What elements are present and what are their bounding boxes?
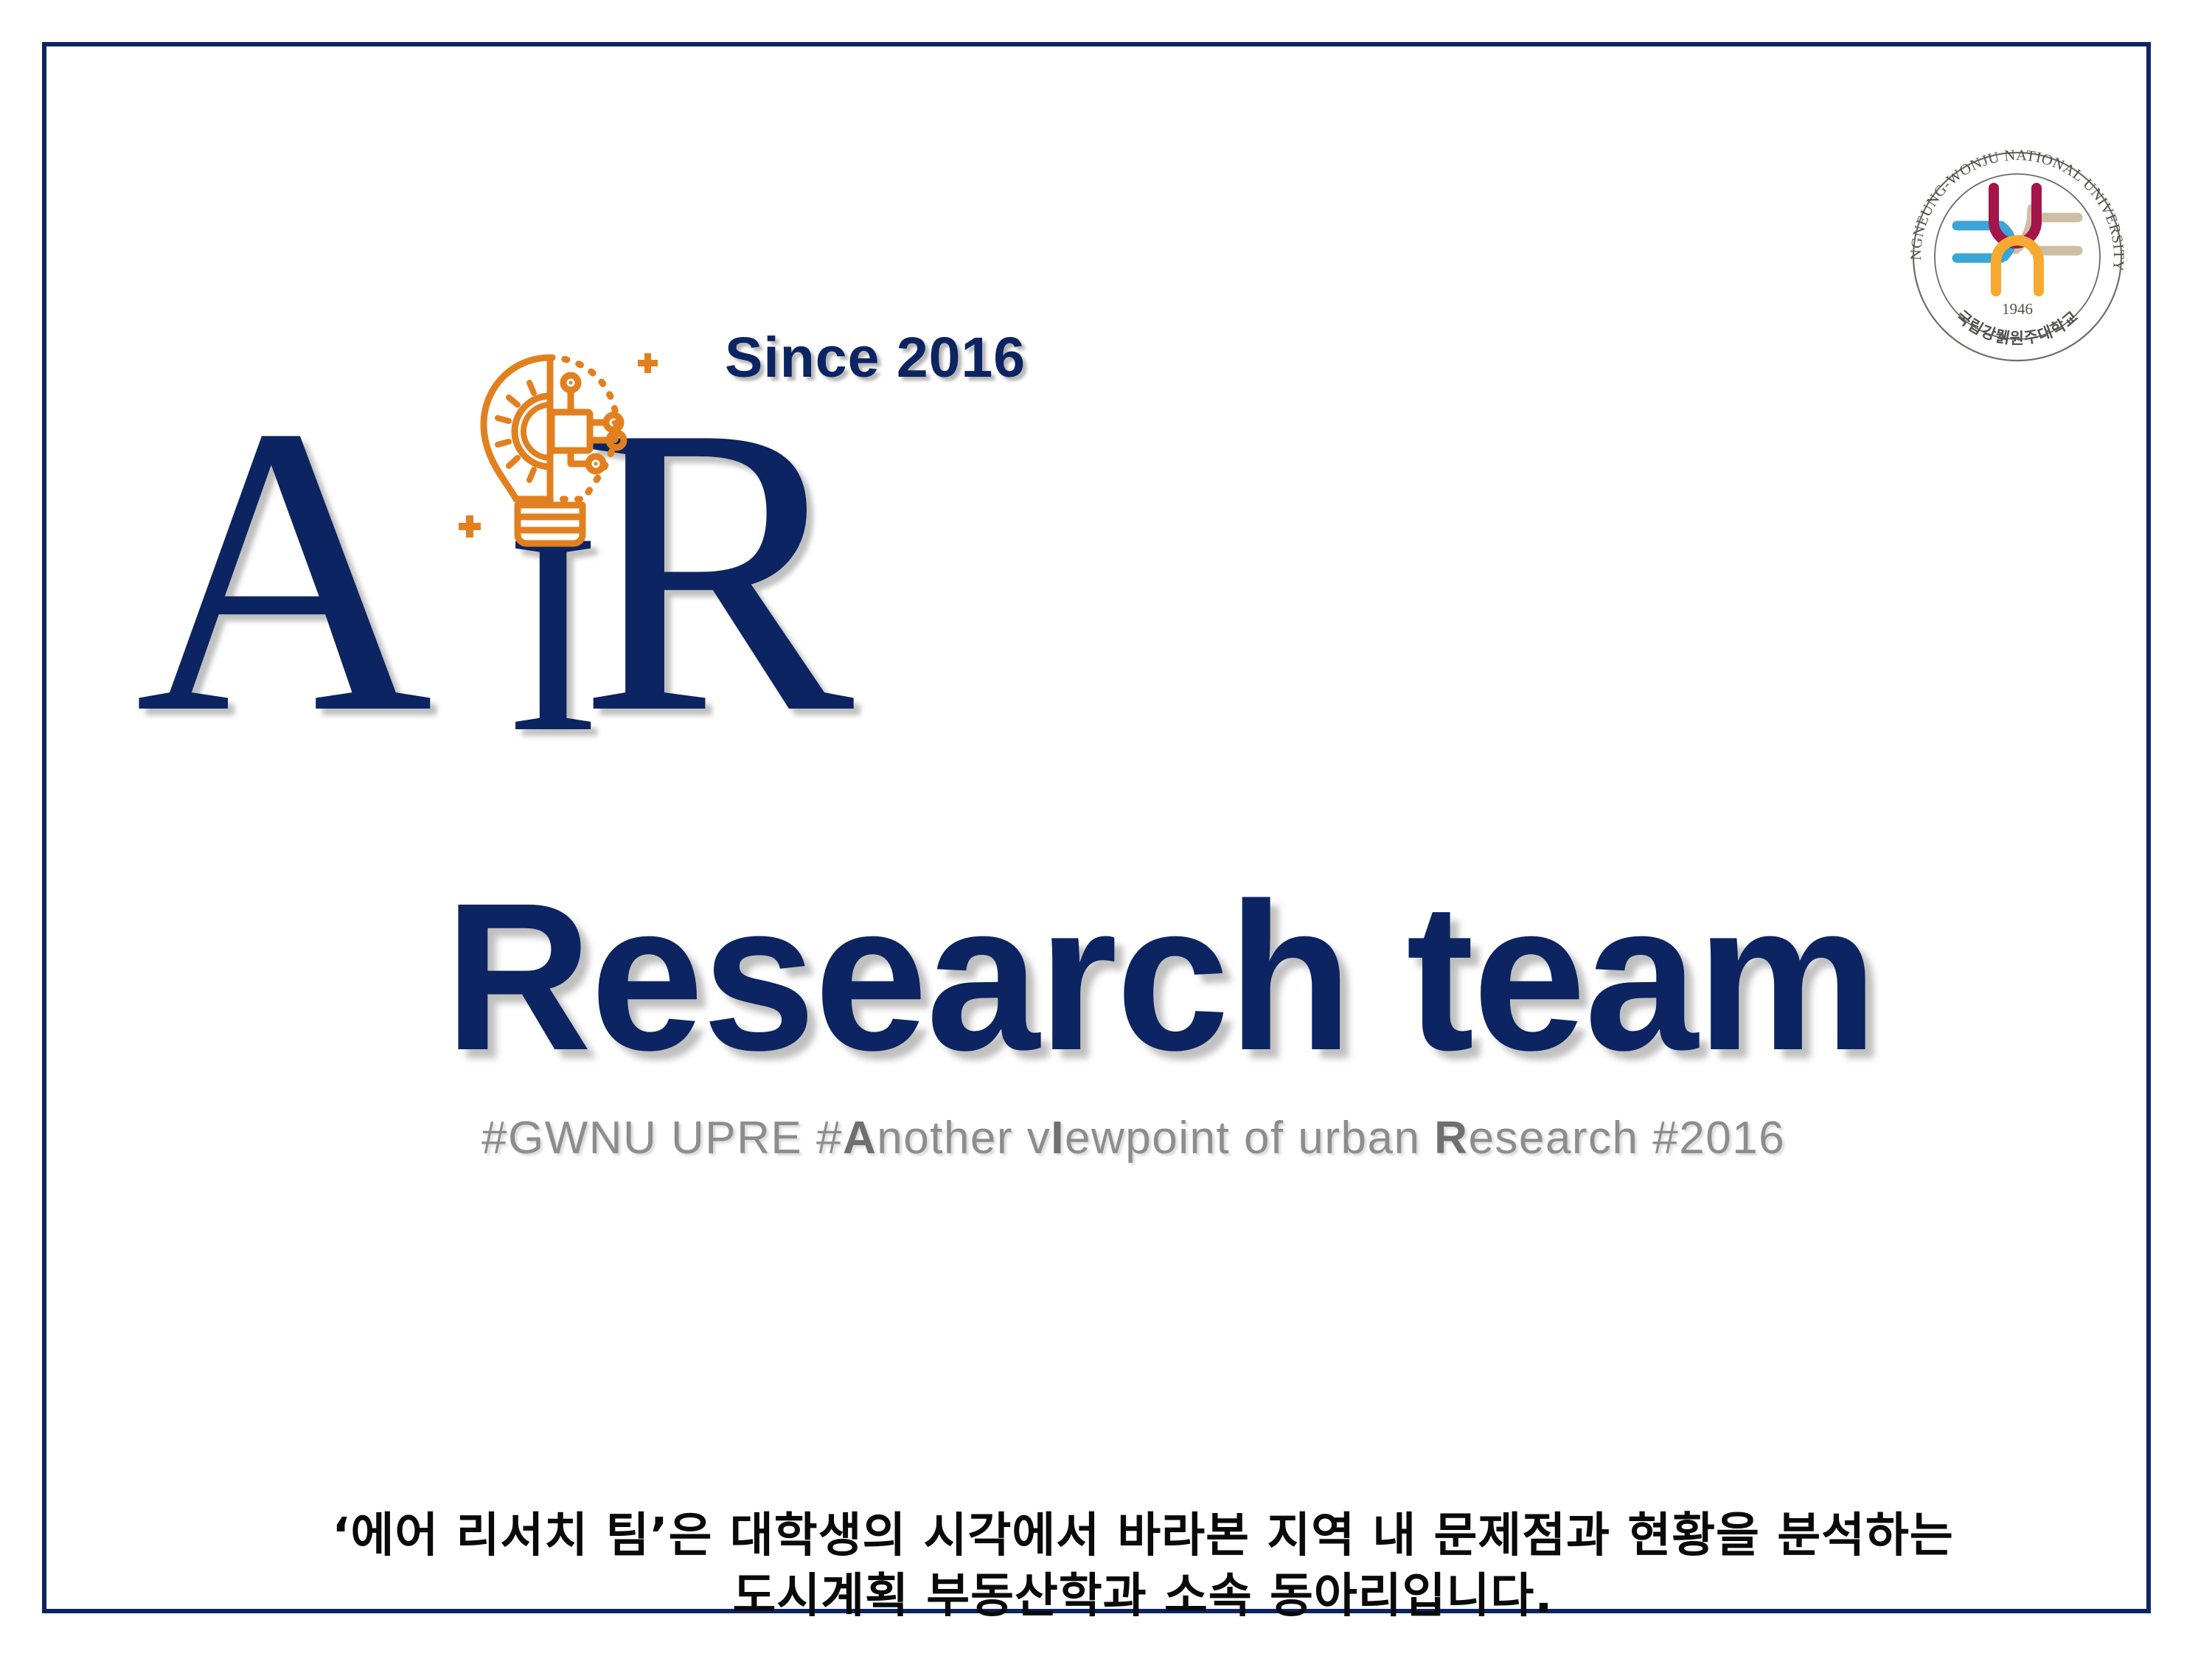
korean-description: ‘에어 리서치 팀’은 대학생의 시각에서 바라본 지역 내 문제점과 현황을 …: [88, 1506, 2197, 1627]
gwnu-university-seal-icon: GANGNEUNG-WONJU NATIONAL UNIVERSITY 국립강뭵…: [1896, 135, 2139, 378]
air-wordmark: A I R: [135, 364, 1167, 843]
slide-border-frame: GANGNEUNG-WONJU NATIONAL UNIVERSITY 국립강뭵…: [42, 42, 2151, 1613]
slide-canvas: GANGNEUNG-WONJU NATIONAL UNIVERSITY 국립강뭵…: [0, 0, 2212, 1659]
tagline-accent-a: A: [843, 1113, 877, 1164]
lightbulb-gear-circuit-icon: [441, 334, 677, 570]
tagline-accent-r: R: [1434, 1113, 1468, 1164]
tagline-accent-i: I: [1051, 1113, 1065, 1164]
korean-description-line-2: 도시계획 부동산학과 소속 동아리입니다.: [88, 1567, 2197, 1627]
hashtag-tagline: #GWNU UPRE #Another vIewpoint of urban R…: [481, 1112, 1785, 1164]
headline-research-team: Research team: [445, 872, 1877, 1082]
svg-text:1946: 1946: [2002, 300, 2033, 318]
korean-description-line-1: ‘에어 리서치 팀’은 대학생의 시각에서 바라본 지역 내 문제점과 현황을 …: [88, 1506, 2197, 1567]
tagline-part: esearch #2016: [1468, 1113, 1785, 1164]
tagline-part: ewpoint of urban: [1065, 1113, 1434, 1164]
wordmark-letter-a: A: [135, 364, 433, 776]
tagline-part: #GWNU UPRE #: [481, 1113, 843, 1164]
tagline-part: nother v: [877, 1113, 1051, 1164]
